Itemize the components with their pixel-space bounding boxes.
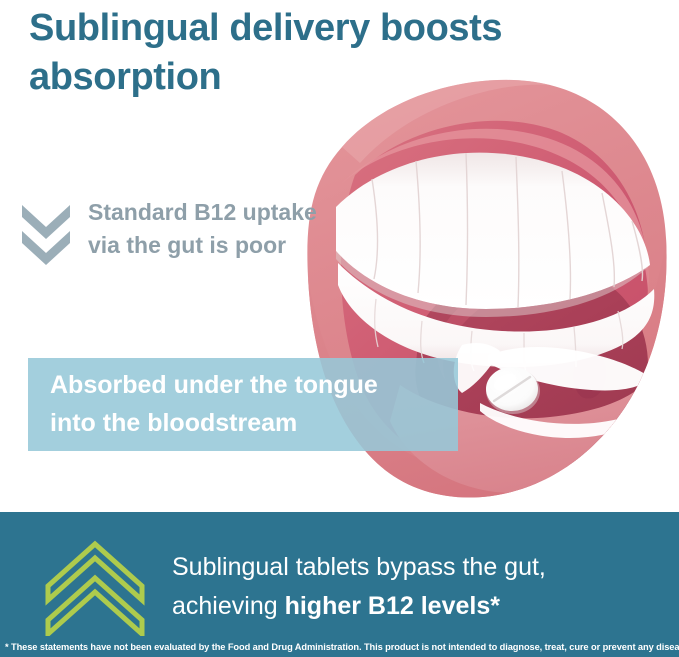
- standard-uptake-text: Standard B12 uptake via the gut is poor: [88, 196, 317, 261]
- upper-teeth: [336, 153, 650, 317]
- bottom-callout: Sublingual tablets bypass the gut, achie…: [42, 538, 546, 636]
- page-title: Sublingual delivery boosts absorption: [29, 4, 599, 101]
- fda-disclaimer: * These statements have not been evaluat…: [5, 642, 677, 652]
- bottom-callout-text: Sublingual tablets bypass the gut, achie…: [172, 548, 546, 626]
- double-chevron-down-icon: [18, 199, 74, 265]
- absorption-banner: Absorbed under the tongue into the blood…: [28, 358, 458, 451]
- absorption-banner-line1: Absorbed under the tongue: [50, 367, 458, 405]
- bottom-callout-line2: achieving higher B12 levels*: [172, 587, 546, 626]
- bottom-callout-line2-bold: higher B12 levels*: [285, 592, 500, 620]
- standard-uptake-line2: via the gut is poor: [88, 229, 317, 262]
- bottom-callout-line2-prefix: achieving: [172, 592, 285, 620]
- bottom-teal-section: Sublingual tablets bypass the gut, achie…: [0, 512, 679, 657]
- lower-teeth: [338, 263, 654, 373]
- sublingual-ridge: [488, 347, 650, 391]
- infographic-root: Sublingual delivery boosts absorption St…: [0, 0, 679, 657]
- sublingual-tablet: [486, 367, 540, 414]
- standard-uptake-line1: Standard B12 uptake: [88, 196, 317, 229]
- absorption-banner-line2: into the bloodstream: [50, 405, 458, 443]
- standard-uptake-callout: Standard B12 uptake via the gut is poor: [18, 196, 317, 265]
- double-chevron-up-icon: [42, 538, 148, 636]
- bottom-callout-line1: Sublingual tablets bypass the gut,: [172, 548, 546, 587]
